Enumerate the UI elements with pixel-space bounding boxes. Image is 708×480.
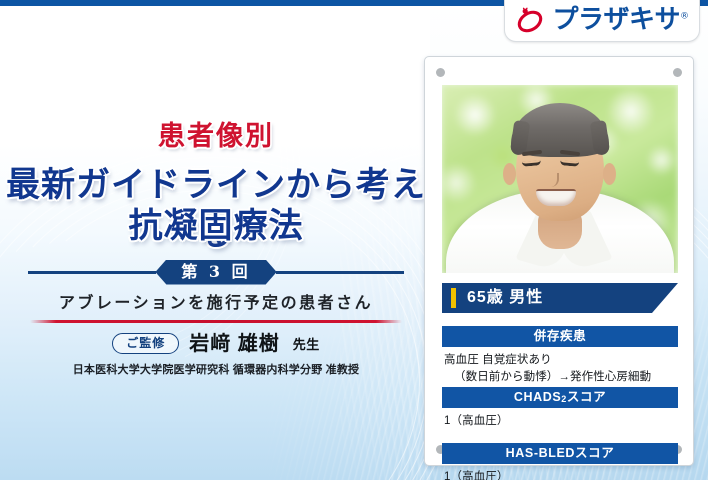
patient-photo [442, 85, 678, 273]
section-title-chads2-suffix: スコア [567, 391, 606, 404]
episode-rule-left [28, 271, 156, 274]
patient-header-banner: 65歳 男性 [442, 283, 678, 313]
section-title-hasbled-suffix: スコア [575, 447, 614, 460]
supervisor-name: 岩﨑 雄樹 [189, 334, 280, 354]
section-body-hasbled: 1（高血圧） [444, 469, 678, 480]
section-title-chads2-text: CHADS [514, 391, 561, 404]
supervisor-row: ご監修 岩﨑 雄樹 先生 [0, 333, 432, 354]
section-title-chads2: CHADS2スコア [442, 387, 678, 408]
comorbidity-line-1: 高血圧 自覚症状あり [444, 352, 678, 369]
episode-rule-right [276, 271, 404, 274]
page-title-line-2: 抗凝固療法 [0, 198, 432, 247]
page-subtitle: アブレーションを施行予定の患者さん [0, 289, 432, 313]
episode-badge-row: 第 3 回 [28, 259, 404, 285]
photo-ear-left [503, 163, 516, 185]
title-panel: 患者像別 最新ガイドラインから考える 抗凝固療法 第 3 回 アブレーションを施… [0, 0, 432, 480]
section-title-hasbled: HAS-BLEDスコア [442, 443, 678, 464]
comorbidity-line-2: （数日前から動悸）→発作性心房細動 [444, 369, 678, 386]
section-title-chads2-subscript: 2 [561, 395, 567, 404]
gold-accent-bar [451, 288, 456, 308]
patient-demographics: 65歳 男性 [467, 290, 543, 306]
supervisor-honorific: 先生 [293, 334, 320, 353]
episode-badge: 第 3 回 [155, 260, 276, 285]
patient-card: 65歳 男性 併存疾患 高血圧 自覚症状あり （数日前から動悸）→発作性心房細動… [424, 56, 694, 466]
section-title-hasbled-text: HAS-BLED [506, 447, 575, 460]
slide-root: プラザキサ® 患者像別 最新ガイドラインから考える 抗凝固療法 第 3 回 アブ… [0, 0, 708, 480]
corner-dot-top-left [436, 68, 445, 77]
title-kicker: 患者像別 [0, 114, 432, 153]
supervisor-affiliation: 日本医科大学大学院医学研究科 循環器内科学分野 准教授 [0, 361, 432, 377]
brand-logo-text: プラザキサ® [552, 7, 688, 33]
supervisor-label-pill: ご監修 [112, 333, 179, 354]
pradaxa-swoosh-icon [515, 7, 545, 33]
hasbled-value: 1（高血圧） [444, 469, 678, 480]
registered-trademark-mark: ® [680, 11, 689, 21]
section-title-comorbidities: 併存疾患 [442, 326, 678, 347]
section-body-comorbidities: 高血圧 自覚症状あり （数日前から動悸）→発作性心房細動 [444, 352, 678, 385]
brand-logo[interactable]: プラザキサ® [504, 0, 700, 42]
photo-ear-right [603, 163, 616, 185]
section-title-comorbidities-text: 併存疾患 [534, 330, 586, 343]
chads2-value: 1（高血圧） [444, 413, 678, 430]
section-body-chads2: 1（高血圧） [444, 413, 678, 430]
red-divider [30, 320, 402, 323]
corner-dot-top-right [673, 68, 682, 77]
